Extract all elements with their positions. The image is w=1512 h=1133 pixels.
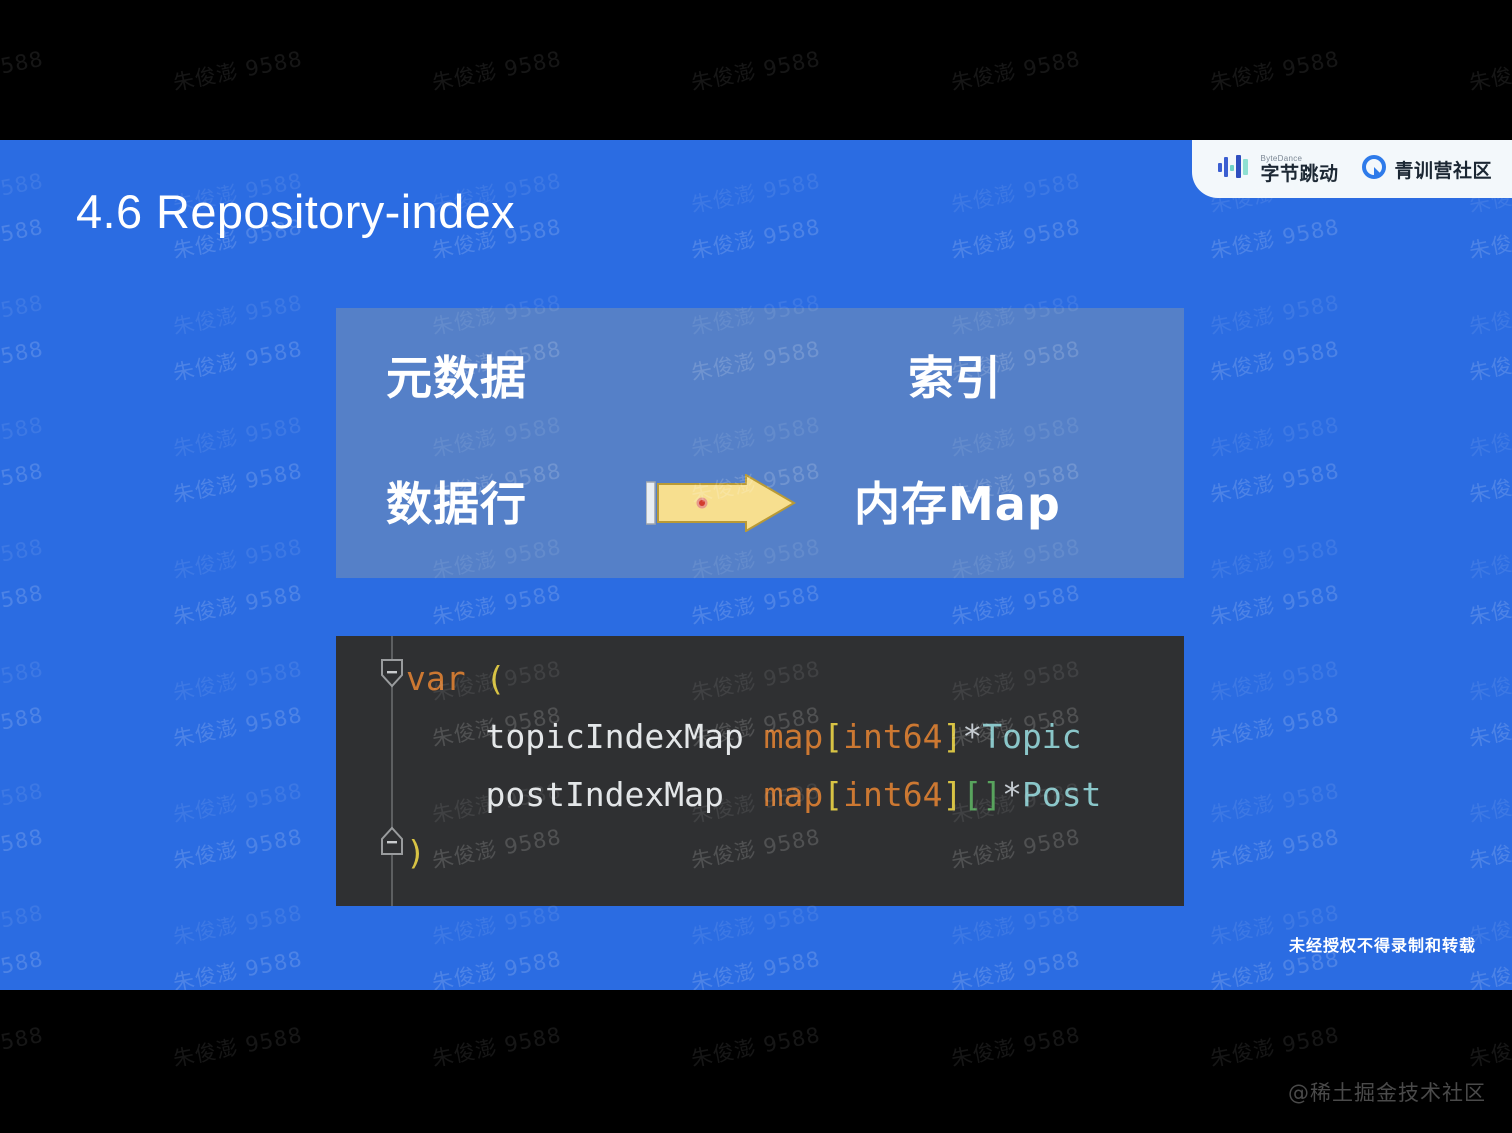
juejin-handle: @稀土掘金技术社区 <box>1288 1077 1486 1107</box>
watermark-text: 朱俊澎 9588 <box>0 943 46 990</box>
watermark-text: 朱俊澎 9588 <box>689 140 823 143</box>
right-block-arrow-icon <box>646 474 796 532</box>
code-token-bracket2: [] <box>962 775 1002 814</box>
watermark-text: 朱俊澎 9588 <box>0 211 46 265</box>
watermark-text: 朱俊澎 9588 <box>948 42 1082 96</box>
watermark-text: 朱俊澎 9588 <box>170 1018 304 1072</box>
watermark-text: 朱俊澎 9588 <box>170 699 304 753</box>
bytedance-brand: ByteDance 字节跳动 <box>1218 155 1338 184</box>
code-panel: var ( topicIndexMap map[int64]*Topic pos… <box>336 636 1184 906</box>
code-line: ) <box>406 836 426 869</box>
watermark-text: 朱俊澎 9588 <box>0 140 46 143</box>
bytedance-latin-label: ByteDance <box>1260 155 1338 163</box>
watermark-text: 朱俊澎 9588 <box>170 821 304 875</box>
watermark-text: 朱俊澎 9588 <box>0 699 46 753</box>
concept-right-memory-map: 内存Map <box>854 468 1061 534</box>
watermark-text: 朱俊澎 9588 <box>948 943 1082 990</box>
watermark-text: 朱俊澎 9588 <box>1207 333 1341 387</box>
code-token-keyword: int64 <box>843 717 942 756</box>
bytedance-wordmark: ByteDance 字节跳动 <box>1260 155 1338 184</box>
watermark-text: 朱俊澎 9588 <box>1207 577 1341 631</box>
watermark-text: 朱俊澎 9588 <box>0 42 46 96</box>
code-token-identifier: postIndexMap <box>406 775 764 814</box>
watermark-text: 朱俊澎 9588 <box>689 42 823 96</box>
code-token-bracket1: [ <box>823 775 843 814</box>
watermark-text: 朱俊澎 9588 <box>1207 455 1341 509</box>
concept-right-index: 索引 <box>908 342 1002 408</box>
watermark-text: 朱俊澎 9588 <box>0 455 46 509</box>
concept-mapping-box: 元数据 索引 数据行 内存Map <box>336 308 1184 578</box>
community-cn-label: 青训营社区 <box>1394 156 1492 183</box>
code-fold-marker-open[interactable] <box>378 658 406 688</box>
code-token-plain <box>466 659 486 698</box>
watermark-text: 朱俊澎 9588 <box>1207 42 1341 96</box>
concept-left-datarow: 数据行 <box>386 468 527 534</box>
watermark-text: 朱俊澎 9588 <box>170 140 304 143</box>
code-token-operator: * <box>1002 775 1022 814</box>
concept-row-datarow: 数据行 内存Map <box>336 456 1184 546</box>
watermark-text: 朱俊澎 9588 <box>689 211 823 265</box>
copyright-notice: 未经授权不得录制和转载 <box>1289 932 1476 956</box>
qingxunying-circle-logo-icon <box>1362 155 1386 184</box>
code-token-bracket1: ( <box>485 659 505 698</box>
watermark-text: 朱俊澎 9588 <box>1466 577 1512 631</box>
watermark-text: 朱俊澎 9588 <box>1466 1018 1512 1072</box>
code-token-type: Topic <box>982 717 1081 756</box>
watermark-text: 朱俊澎 9588 <box>430 577 564 631</box>
watermark-text: 朱俊澎 9588 <box>1207 821 1341 875</box>
watermark-text: 朱俊澎 9588 <box>689 577 823 631</box>
code-token-keyword: var <box>406 659 466 698</box>
watermark-text: 朱俊澎 9588 <box>0 1018 46 1072</box>
watermark-text: 朱俊澎 9588 <box>430 943 564 990</box>
watermark-text: 朱俊澎 9588 <box>430 42 564 96</box>
concept-left-metadata: 元数据 <box>386 342 527 408</box>
watermark-text: 朱俊澎 9588 <box>1207 1018 1341 1072</box>
watermark-text: 朱俊澎 9588 <box>689 943 823 990</box>
page-title: 4.6 Repository-index <box>76 184 515 239</box>
watermark-text: 朱俊澎 9588 <box>170 42 304 96</box>
community-brand: 青训营社区 <box>1362 155 1492 184</box>
watermark-text: 朱俊澎 9588 <box>948 140 1082 143</box>
watermark-text: 朱俊澎 9588 <box>1466 699 1512 753</box>
code-token-keyword: int64 <box>843 775 942 814</box>
presentation-slide: 朱俊澎 9588朱俊澎 9588朱俊澎 9588朱俊澎 9588朱俊澎 9588… <box>0 140 1512 990</box>
code-line: var ( <box>406 662 505 695</box>
watermark-text: 朱俊澎 9588 <box>1466 333 1512 387</box>
code-token-bracket1: ) <box>406 833 426 872</box>
code-token-keyword: map <box>764 717 824 756</box>
code-token-operator: * <box>962 717 982 756</box>
watermark-text: 朱俊澎 9588 <box>170 943 304 990</box>
code-token-bracket1: ] <box>942 775 962 814</box>
code-fold-marker-close[interactable] <box>378 826 406 856</box>
code-token-bracket1: ] <box>942 717 962 756</box>
watermark-text: 朱俊澎 9588 <box>1207 211 1341 265</box>
code-token-type: Post <box>1022 775 1101 814</box>
video-frame: 朱俊澎 9588朱俊澎 9588朱俊澎 9588朱俊澎 9588朱俊澎 9588… <box>0 0 1512 1133</box>
watermark-text: 朱俊澎 9588 <box>0 333 46 387</box>
watermark-text: 朱俊澎 9588 <box>430 140 564 143</box>
bytedance-cn-label: 字节跳动 <box>1260 165 1338 184</box>
watermark-text: 朱俊澎 9588 <box>430 1018 564 1072</box>
code-token-bracket1: [ <box>823 717 843 756</box>
watermark-text: 朱俊澎 9588 <box>689 1018 823 1072</box>
bytedance-bars-logo-icon <box>1218 155 1252 184</box>
brand-badge: ByteDance 字节跳动 青训营社区 <box>1192 140 1512 198</box>
code-line: topicIndexMap map[int64]*Topic <box>406 720 1082 753</box>
watermark-text: 朱俊澎 9588 <box>1466 211 1512 265</box>
watermark-text: 朱俊澎 9588 <box>948 577 1082 631</box>
watermark-text: 朱俊澎 9588 <box>1466 42 1512 96</box>
code-token-identifier: topicIndexMap <box>406 717 764 756</box>
watermark-text: 朱俊澎 9588 <box>1466 455 1512 509</box>
watermark-text: 朱俊澎 9588 <box>1466 821 1512 875</box>
watermark-text: 朱俊澎 9588 <box>0 577 46 631</box>
code-token-keyword: map <box>764 775 824 814</box>
watermark-text: 朱俊澎 9588 <box>170 577 304 631</box>
watermark-text: 朱俊澎 9588 <box>170 333 304 387</box>
watermark-text: 朱俊澎 9588 <box>948 211 1082 265</box>
watermark-text: 朱俊澎 9588 <box>1207 699 1341 753</box>
watermark-text: 朱俊澎 9588 <box>170 455 304 509</box>
code-line: postIndexMap map[int64][]*Post <box>406 778 1101 811</box>
concept-row-metadata: 元数据 索引 <box>336 330 1184 420</box>
watermark-text: 朱俊澎 9588 <box>948 1018 1082 1072</box>
watermark-text: 朱俊澎 9588 <box>0 821 46 875</box>
